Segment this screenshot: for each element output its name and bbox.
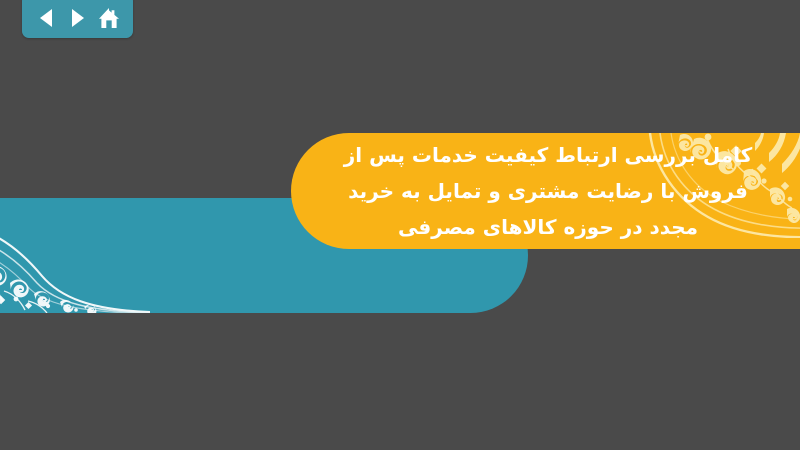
triangle-left-icon [37,8,55,28]
navigation-toolbar [22,0,133,38]
triangle-right-icon [69,8,87,28]
next-button[interactable] [65,6,91,30]
home-button[interactable] [96,6,122,30]
orange-arabesque-ornament [646,133,800,238]
teal-arabesque-ornament [0,198,150,313]
home-icon [98,8,120,29]
previous-button[interactable] [33,6,59,30]
slide-canvas: کامل بررسی ارتباط کیفیت خدمات پس از فروش… [0,0,800,450]
orange-title-panel [291,133,800,249]
